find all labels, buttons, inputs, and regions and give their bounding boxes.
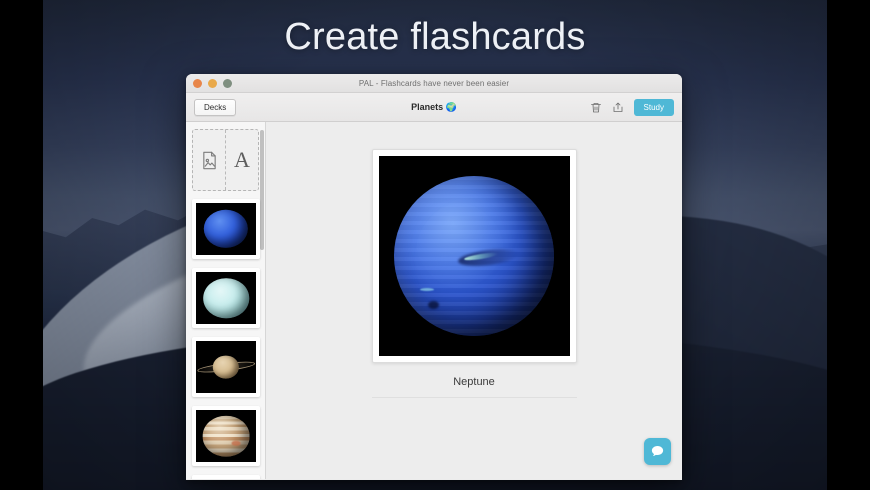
neptune-image-art (394, 176, 554, 336)
neptune-cloud-wisp-lower (420, 288, 434, 291)
great-red-spot (232, 441, 241, 445)
page-headline: Create flashcards (0, 16, 870, 59)
window-controls[interactable] (193, 79, 232, 88)
zoom-button[interactable] (223, 79, 232, 88)
window-body: A (186, 122, 682, 479)
neptune-planet-art (204, 210, 248, 248)
thumbnail-jupiter (196, 410, 256, 462)
sidebar-scrollbar[interactable] (260, 130, 264, 250)
decks-back-button[interactable]: Decks (194, 99, 236, 116)
card-detail-pane: Neptune (266, 122, 682, 479)
study-button[interactable]: Study (634, 99, 674, 116)
jupiter-planet-art (203, 416, 250, 457)
flashcard-image (379, 156, 570, 356)
screenshot-stage: Create flashcards PAL - Flashcards have … (0, 0, 870, 490)
list-item[interactable] (192, 199, 260, 259)
list-item[interactable] (192, 475, 260, 479)
list-item[interactable] (192, 406, 260, 466)
letterbox-bar-right (827, 0, 870, 490)
deck-title-text: Planets (411, 102, 443, 112)
globe-icon: 🌍 (446, 102, 457, 112)
add-text-card-button[interactable]: A (225, 130, 258, 190)
saturn-planet-art (213, 356, 239, 379)
add-card-row: A (192, 129, 259, 191)
list-item[interactable] (192, 268, 260, 328)
thumbnail-uranus (196, 272, 256, 324)
letterbox-bar-left (0, 0, 43, 490)
trash-icon[interactable] (590, 101, 602, 114)
image-card-icon (201, 151, 218, 170)
app-window: PAL - Flashcards have never been easier … (186, 74, 682, 480)
toolbar-actions: Study (590, 99, 682, 116)
close-button[interactable] (193, 79, 202, 88)
app-toolbar: Decks Planets 🌍 Study (186, 93, 682, 122)
chat-bubble-icon (650, 444, 665, 459)
add-image-card-button[interactable] (193, 130, 225, 190)
minimize-button[interactable] (208, 79, 217, 88)
share-icon[interactable] (612, 101, 624, 114)
letter-a-icon: A (234, 149, 250, 171)
window-title: PAL - Flashcards have never been easier (186, 74, 682, 93)
card-sidebar: A (186, 122, 266, 479)
flashcard-label: Neptune (372, 376, 577, 398)
list-item[interactable] (192, 337, 260, 397)
chat-bubble-button[interactable] (644, 438, 671, 465)
thumbnail-saturn (196, 341, 256, 393)
window-titlebar: PAL - Flashcards have never been easier (186, 74, 682, 93)
thumbnail-neptune (196, 203, 256, 255)
uranus-planet-art (203, 278, 249, 318)
flashcard[interactable] (372, 149, 577, 363)
neptune-southern-spot (428, 301, 439, 309)
